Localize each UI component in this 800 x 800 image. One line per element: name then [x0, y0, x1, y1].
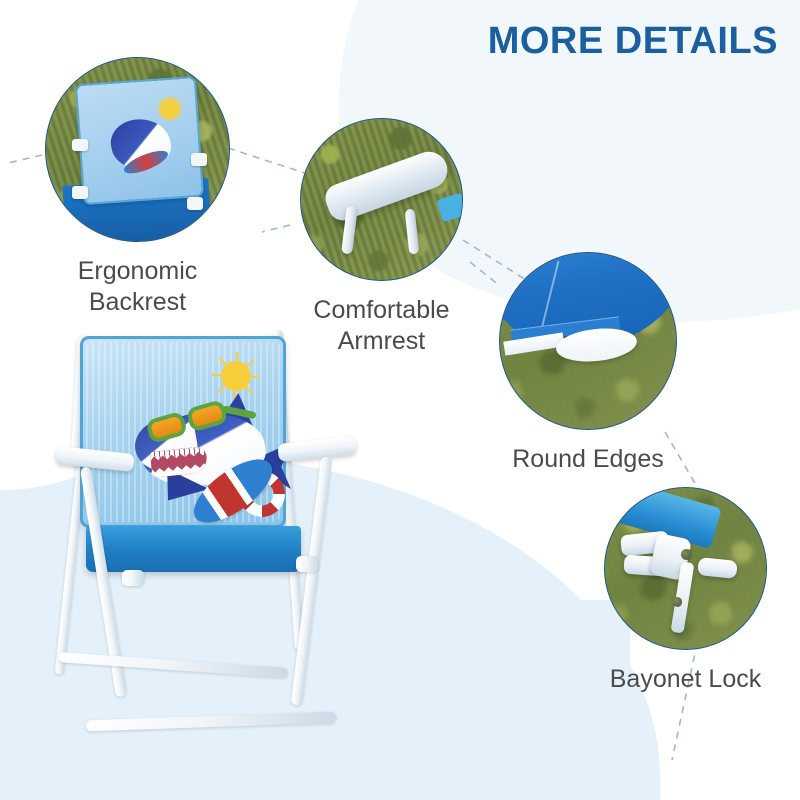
callout-image-ergonomic-backrest: [45, 57, 230, 242]
frame-clip-icon: [72, 139, 88, 152]
frame-clip-icon: [191, 153, 207, 166]
chair-foot-rail-rear: [58, 652, 288, 678]
product-image-chair: [38, 330, 368, 760]
frame-clip-icon: [72, 186, 88, 199]
callout-label-bayonet-lock: Bayonet Lock: [516, 664, 800, 695]
sunglasses-lens: [185, 399, 228, 433]
frame-clip-icon: [187, 197, 203, 210]
chair-seat: [86, 526, 301, 572]
page-title: MORE DETAILS: [488, 20, 778, 63]
product-detail-page: MORE DETAILS Ergonomic Backrest: [0, 0, 800, 800]
chair-bayonet-lock-left: [122, 570, 144, 586]
callout-comfortable-armrest[interactable]: Comfortable Armrest: [300, 118, 463, 281]
sunglasses-lens: [145, 411, 188, 445]
lock-pin: [698, 557, 738, 579]
callout-bayonet-lock[interactable]: Bayonet Lock: [604, 487, 767, 650]
callout-image-comfortable-armrest: [300, 118, 463, 281]
chair-foot-rail-front: [86, 712, 336, 732]
chair-bayonet-lock-right: [296, 556, 318, 572]
callout-image-round-edges: [499, 252, 677, 430]
chair-backrest-detail: [75, 76, 204, 205]
sun-graphic-icon: [159, 98, 180, 119]
callout-image-bayonet-lock: [604, 487, 767, 650]
chair-backrest: [80, 336, 286, 528]
shark-graphic: [135, 385, 295, 525]
callout-label-round-edges: Round Edges: [418, 444, 758, 475]
callout-ergonomic-backrest[interactable]: Ergonomic Backrest: [45, 57, 230, 242]
connector-2-left: [262, 225, 290, 232]
connector-1-left: [8, 155, 42, 163]
callout-round-edges[interactable]: Round Edges: [499, 252, 677, 430]
